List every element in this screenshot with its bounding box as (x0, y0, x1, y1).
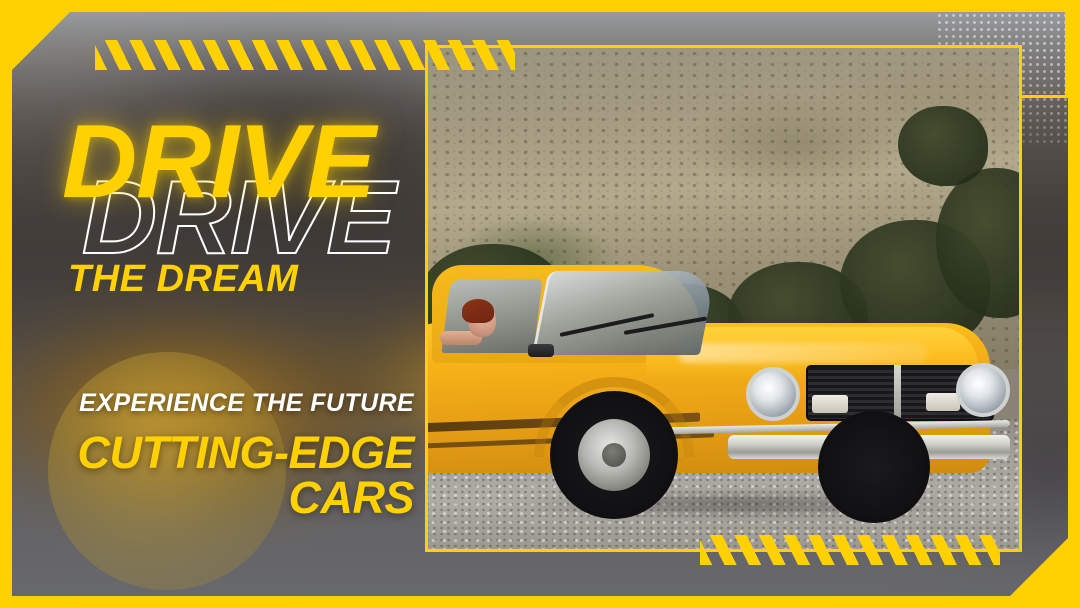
drive-solid-text: DRIVE (62, 110, 375, 214)
rear-wheel (818, 411, 930, 523)
grille-divider (894, 365, 901, 421)
turn-signal (812, 395, 848, 413)
shrub (898, 106, 988, 186)
vintage-coupe (428, 213, 1019, 513)
driver-hair (462, 299, 494, 323)
side-mirror (528, 344, 554, 357)
hood-highlight (678, 343, 928, 363)
hazard-stripes-bottom (700, 535, 1000, 565)
photo-panel (425, 45, 1022, 552)
the-dream-text: THE DREAM (68, 258, 298, 301)
headlight (746, 367, 800, 421)
wheel-hub (602, 443, 626, 467)
headline-block: DRIVE DRIVE THE DREAM EXPERIENCE THE FUT… (0, 0, 430, 608)
subhead-line-1: CUTTING-EDGE (0, 430, 414, 476)
windshield (532, 271, 716, 355)
subhead-kicker: EXPERIENCE THE FUTURE (0, 390, 414, 418)
headlight (956, 363, 1010, 417)
promo-poster: DRIVE DRIVE THE DREAM EXPERIENCE THE FUT… (0, 0, 1080, 608)
photo-inner (428, 48, 1019, 549)
drive-wordmark: DRIVE DRIVE (62, 110, 422, 260)
subhead-block: EXPERIENCE THE FUTURE CUTTING-EDGE CARS (0, 390, 420, 521)
turn-signal (926, 393, 960, 411)
subhead-line-2: CARS (0, 475, 414, 521)
